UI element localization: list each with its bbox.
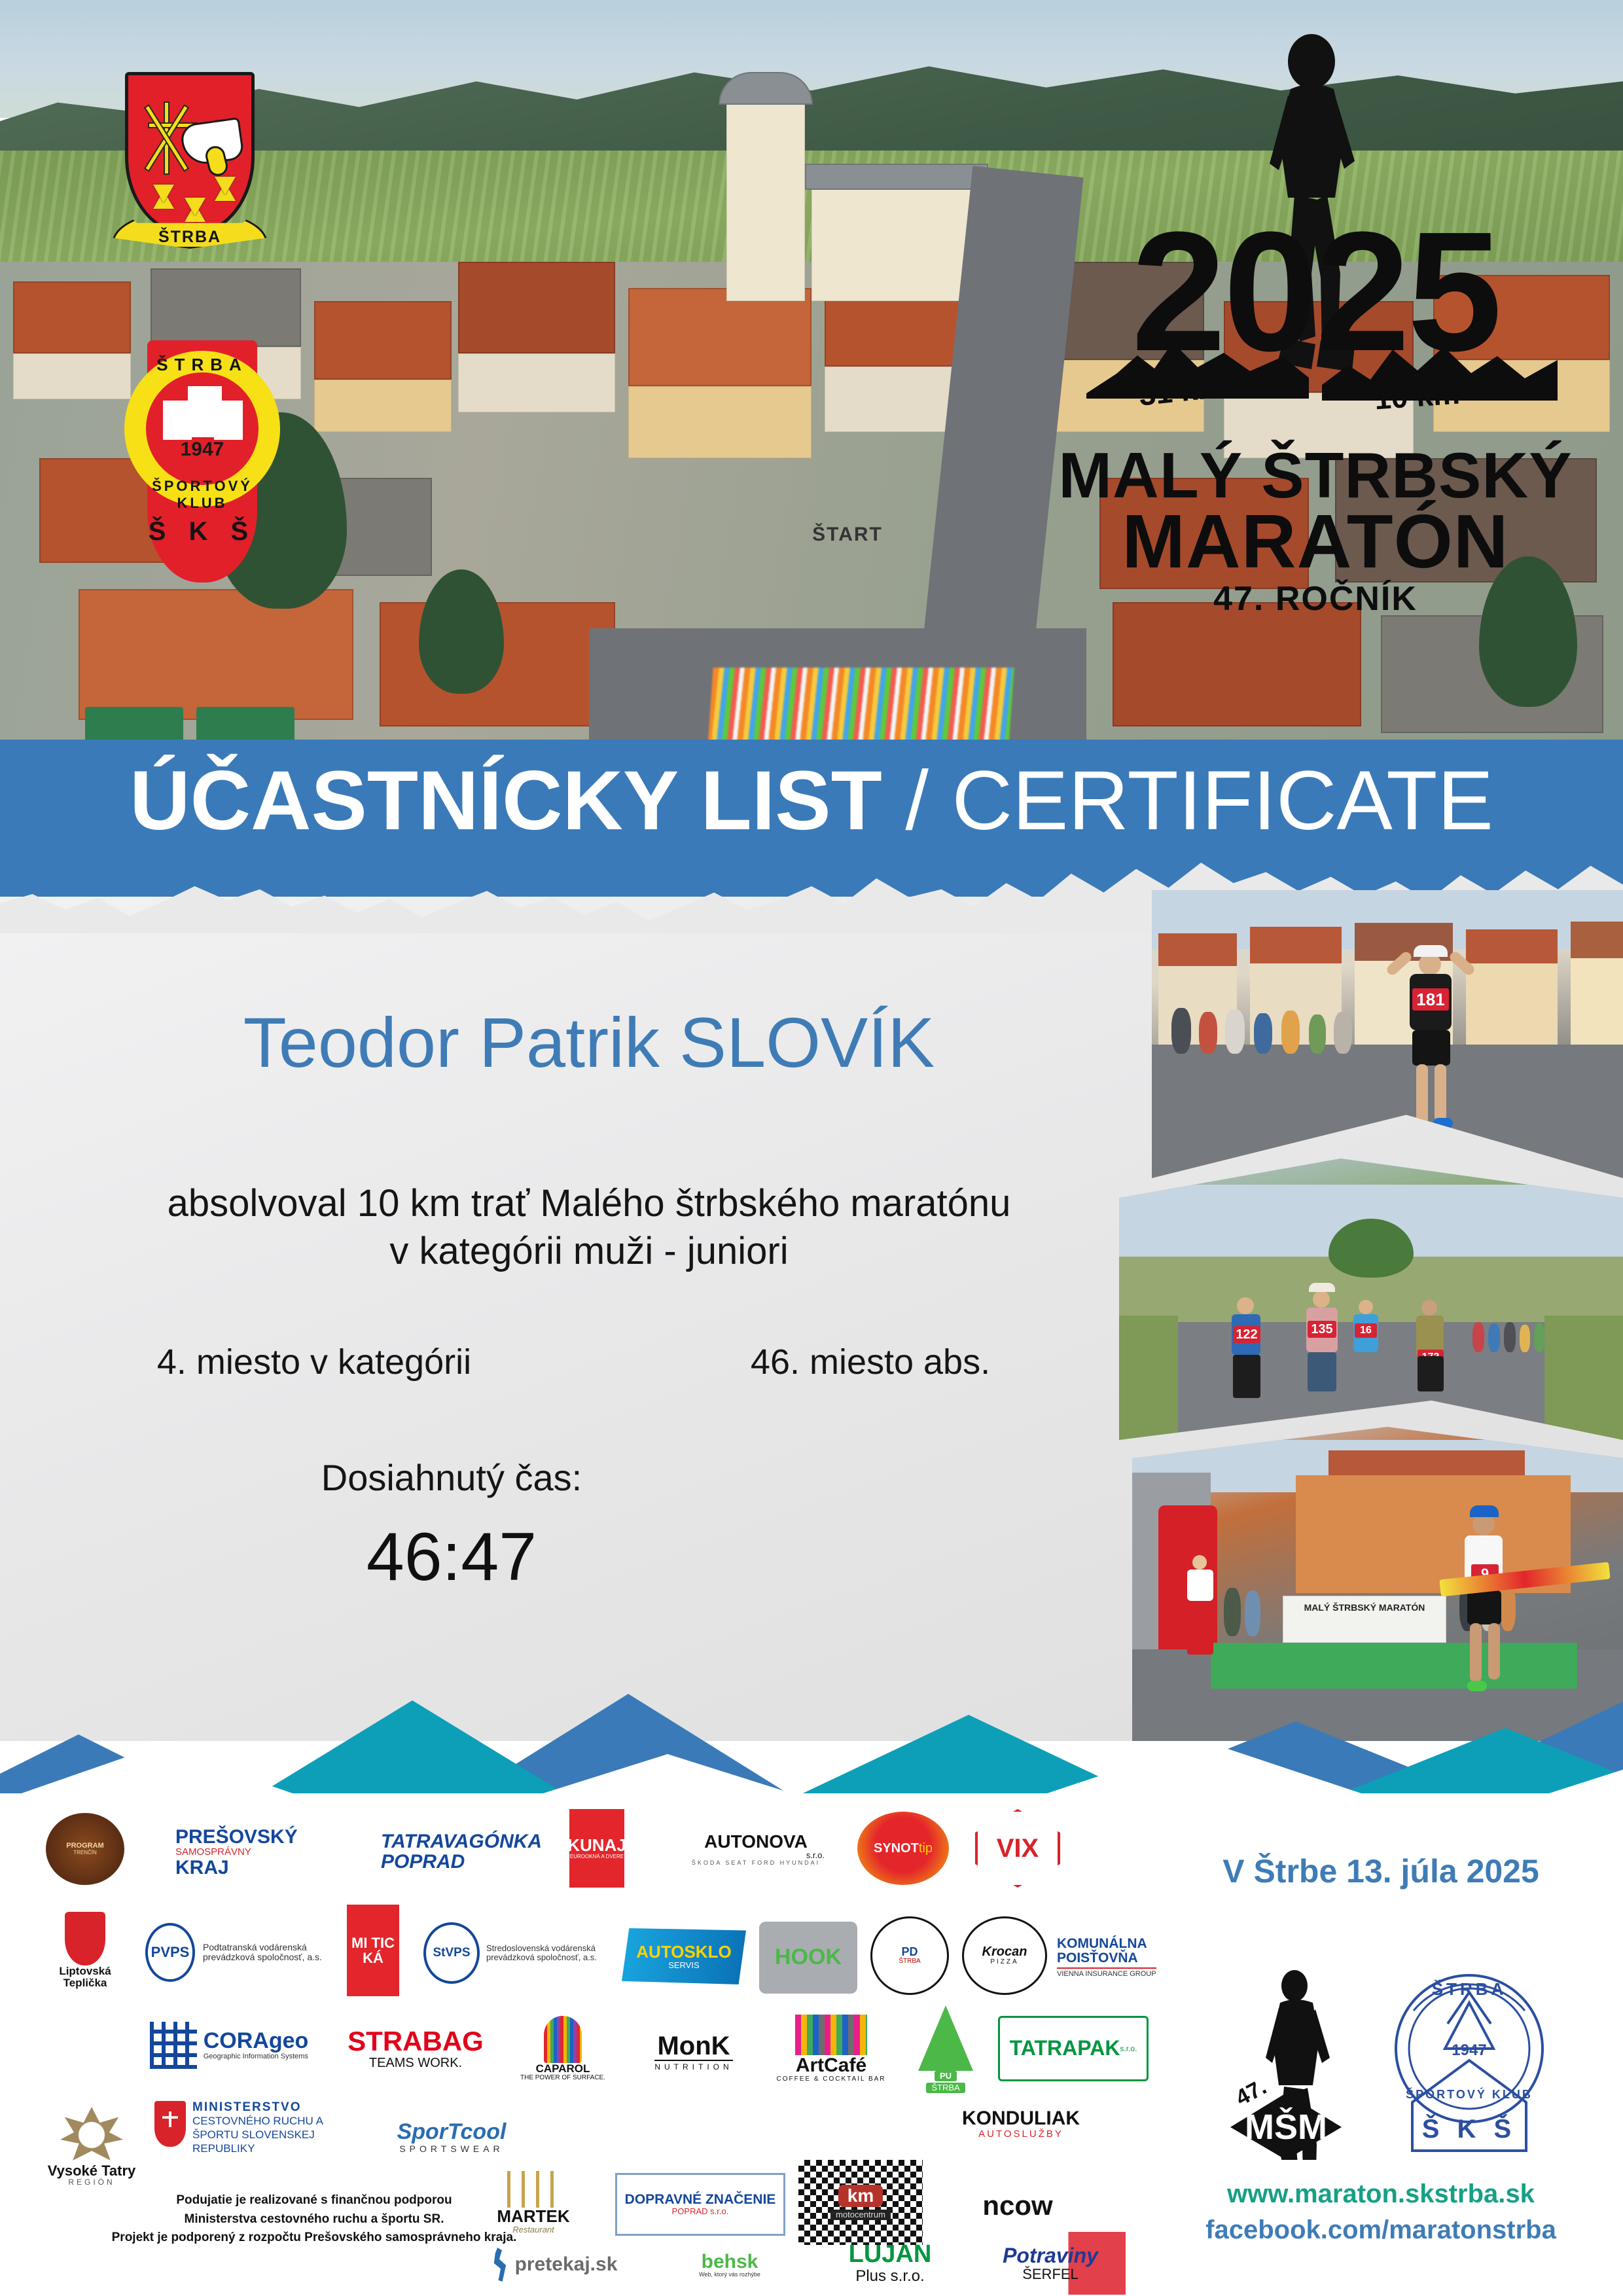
sponsor-sublabel: SERVIS [668,1961,699,1970]
funding-line-1: Podujatie je realizované s finančnou pod… [39,2191,589,2210]
facebook-url[interactable]: facebook.com/maratonstrba [1165,2215,1597,2245]
sponsor-label: SporTcool [397,2121,507,2144]
place-in-category: 4. miesto v kategórii [98,1342,530,1382]
sponsor-logo[interactable]: CAPAROL THE POWER OF SURFACE. [510,2003,615,2094]
sponsor-label: KUNAJ [567,1837,626,1854]
svg-text:47.: 47. [1232,2074,1271,2111]
sponsor-sublabel: REGIÓN [68,2178,115,2187]
sponsor-logo[interactable]: STRABAG TEAMS WORK. [340,2016,491,2081]
description-line-1: absolvoval 10 km trať Malého štrbského m… [79,1181,1099,1225]
sponsor-label: MINISTERSTVO [192,2101,302,2114]
emblem-letters: Š K Š [147,517,257,547]
sponsor-sublabel: Geographic Information Systems [204,2053,308,2061]
sponsor-sublabel: NUTRITION [654,2060,732,2072]
funding-line-2: Ministerstva cestovného ruchu a športu S… [39,2210,589,2229]
event-title-line2: MARATÓN [1047,497,1584,585]
sponsor-logo[interactable]: DOPRAVNÉ ZNAČENIE POPRAD s.r.o. [615,2173,785,2236]
sponsor-label: SYNOT [874,1842,919,1856]
sponsor-label: CORAgeo [204,2030,309,2053]
sponsor-sublabel: s.r.o. [806,1851,838,1860]
sponsor-logo[interactable]: PU ŠTRBA [910,2000,982,2098]
sponsor-sublabel: Stredoslovenská vodárenská prevádzková s… [480,1944,611,1962]
sponsor-logo[interactable]: Vysoké Tatry REGIÓN [46,2094,137,2199]
sponsor-logo[interactable]: TATRAVAGÓNKA POPRAD [334,1822,543,1881]
sponsor-label: PD [901,1946,918,1958]
sponsor-label: Krocan [982,1945,1027,1959]
sponsor-label: PREŠOVSKÝ [137,1827,298,1848]
sponsor-logo[interactable]: Potraviny ŠERFEL [975,2232,1126,2295]
runner-bib: 181 [1412,988,1449,1011]
sponsor-label: StVPS [423,1922,480,1984]
finish-banner-text: MALÝ ŠTRBSKÝ MARATÓN [1287,1602,1442,1614]
sponsor-logo[interactable]: PREŠOVSKÝ SAMOSPRÁVNY KRAJ [137,1822,321,1882]
photo-finisher-jump: 181 [1152,890,1623,1178]
sponsor-label: km [838,2185,883,2206]
emblem-arc-top: ŠTRBA [124,355,280,375]
sponsor-sublabel: motocentrum [830,2210,891,2220]
svg-text:MŠM: MŠM [1245,2107,1327,2147]
sponsor-logo[interactable]: PD ŠTRBA [870,1916,949,1995]
sponsor-sublabel2: KRAJ [137,1857,229,1878]
sponsor-label: KOMUNÁLNA [1057,1937,1147,1951]
sponsor-label: ArtCafé [796,2055,866,2076]
sponsor-sublabel: THE POWER OF SURFACE. [520,2075,605,2082]
event-logo: 2025 31 km 10 km MALÝ ŠTRBSKÝ MARATÓN 47… [1047,33,1584,596]
sponsor-sublabel: tip [919,1842,933,1856]
runner-bib: 122 [1233,1326,1260,1343]
sponsor-logo[interactable]: behsk Web, ktorý vás rozhýbe [654,2238,805,2291]
sponsor-logo[interactable]: LUJAN Plus s.r.o. [825,2232,955,2295]
runner-bib: 16 [1355,1323,1377,1338]
funding-statement: Podujatie je realizované s finančnou pod… [39,2191,589,2248]
sponsor-label: ncow [982,2191,1052,2220]
sponsor-logo[interactable]: PROGRAM TRENČÍN [46,1813,124,1885]
sponsor-sublabel: Plus s.r.o. [855,2268,924,2284]
sponsor-logo[interactable]: KUNAJ EUROOKNÁ A DVERE [569,1809,624,1888]
time-value: 46:47 [196,1518,707,1596]
photo-runners-hill: 122 135 16 173 [1119,1158,1623,1440]
start-arch-label: ŠTART [785,524,910,546]
sponsor-sublabel: CESTOVNÉHO RUCHU A ŠPORTU SLOVENSKEJ REP… [192,2114,343,2156]
sponsor-logo[interactable]: KONDULIAK AUTOSLUŽBY [949,2088,1093,2160]
title-english: CERTIFICATE [952,754,1493,848]
sponsor-sublabel: EUROOKNÁ A DVERE [570,1854,624,1859]
time-label: Dosiahnutý čas: [196,1456,707,1499]
sponsor-sublabel2: VIENNA INSURANCE GROUP [1057,1967,1156,1979]
sponsor-label: KONDULIAK [962,2108,1080,2129]
funding-line-3: Projekt je podporený z rozpočtu Prešovsk… [39,2229,589,2248]
sponsor-logo[interactable]: MI TIC KÁ [347,1905,399,1996]
event-edition: 47. ROČNÍK [1047,579,1584,619]
sponsor-label: AUTOSKLO [636,1943,731,1961]
sponsor-label: TATRAPAK [1010,2037,1120,2060]
distance-short: 10 km [1373,376,1461,417]
club-stamp-arc-top: ŠTRBA [1432,1979,1507,1999]
club-stamp: ŠTRBA 1947 ŠPORTOVÝ KLUB Š K Š [1374,1964,1564,2160]
sponsor-label: HOOK [775,1946,842,1969]
sponsor-label: AUTONOVA [704,1832,808,1851]
club-stamp-arc-bottom: ŠPORTOVÝ KLUB [1406,2087,1533,2101]
sponsor-label: Potraviny [1003,2245,1098,2267]
sponsor-logo[interactable]: MonK NUTRITION [628,2016,759,2088]
sponsor-sublabel: TRENČÍN [73,1850,97,1856]
sponsor-logo[interactable]: KOMUNÁLNA POISŤOVŇA VIENNA INSURANCE GRO… [1057,1922,1207,1994]
sponsor-sublabel: SAMOSPRÁVNY [137,1847,251,1857]
title-separator: / [882,754,952,848]
sponsor-label: PVPS [145,1923,195,1982]
sponsor-sublabel: ŠERFEL [1022,2267,1079,2282]
sponsor-sublabel: COFFEE & COCKTAIL BAR [776,2076,885,2083]
club-stamp-year: 1947 [1452,2041,1486,2059]
sponsor-logo[interactable]: Krocan PIZZA [962,1916,1047,1995]
crest-name: ŠTRBA [115,228,265,247]
sponsor-label: VIX [997,1835,1039,1862]
participant-name: Teodor Patrik SLOVÍK [79,1001,1099,1083]
sponsor-label: CAPAROL [536,2063,590,2075]
sponsor-label: LUJAN [849,2242,932,2268]
sponsor-label: TATRAVAGÓNKA [334,1831,542,1852]
sponsor-sublabel: s.r.o. [1120,2045,1137,2053]
sponsor-logo[interactable]: CORAgeo Geographic Information Systems [131,2009,327,2081]
sponsor-logo[interactable]: AUTONOVA s.r.o. ŠKODA SEAT FORD HYUNDAI [674,1813,838,1885]
sponsor-logo-grid: PROGRAM TRENČÍN PREŠOVSKÝ SAMOSPRÁVNY KR… [46,1806,1158,2225]
strba-coat-of-arms: ŠTRBA [115,65,265,262]
sponsor-label: Vysoké Tatry [48,2163,136,2178]
sponsor-logo[interactable]: StVPS Stredoslovenská vodárenská prevádz… [419,1916,615,1990]
sponsor-logo[interactable]: HOOK [759,1922,857,1994]
sponsor-logo[interactable]: ncow [955,2173,1080,2238]
sponsor-logo[interactable]: ArtCafé COFFEE & COCKTAIL BAR [772,2003,890,2094]
sponsor-sublabel: POPRAD s.r.o. [672,2207,729,2216]
sponsor-label: DOPRAVNÉ ZNAČENIE [625,2193,776,2207]
certificate-title: ÚČASTNÍCKY LIST / CERTIFICATE [0,753,1623,849]
msm-stamp: MŠM 47. [1211,1964,1361,2160]
sponsor-logo[interactable]: PVPS Podtatranská vodárenská prevádzková… [137,1916,334,1988]
sponsor-logo[interactable]: AUTOSKLO SERVIS [622,1928,746,1984]
sponsor-logo[interactable]: VIX [975,1809,1060,1888]
sponsor-label: Liptovská [59,1965,111,1977]
sponsor-label: PROGRAM [66,1842,103,1850]
sponsor-sublabel: ŠTRBA [899,1958,920,1965]
sponsor-label: behsk [702,2251,758,2272]
sponsor-label: MI TIC KÁ [347,1935,399,1965]
sponsor-logo[interactable]: Liptovská Teplička [46,1905,124,1996]
runners-crowd [700,668,1014,740]
runner-bib: 135 [1308,1321,1336,1338]
sponsor-sublabel: PIZZA [990,1959,1018,1966]
sponsor-label: PU [935,2071,957,2081]
description-line-2: v kategórii muži - juniori [79,1229,1099,1273]
sponsor-sublabel: Teplička [63,1977,107,1989]
sponsor-sublabel: TEAMS WORK. [369,2056,462,2070]
club-stamp-letters: Š K Š [1422,2113,1516,2144]
title-slovak: ÚČASTNÍCKY LIST [130,754,882,848]
sponsor-logo[interactable]: SYNOTtip [857,1812,949,1885]
shield-icon [125,72,255,236]
sponsor-sublabel: POPRAD [334,1852,465,1873]
place-absolute: 46. miesto abs. [654,1342,1086,1382]
sks-club-emblem: ŠTRBA 1947 ŠPORTOVÝ KLUB Š K Š [108,321,298,602]
sponsor-sublabel: POISŤOVŇA [1057,1951,1138,1965]
sponsor-sublabel: Web, ktorý vás rozhýbe [699,2272,760,2278]
emblem-year: 1947 [146,439,259,461]
photo-collage: 181 122 135 [1099,890,1623,1741]
emblem-arc-bottom: ŠPORTOVÝ KLUB [124,478,280,512]
sponsor-label: pretekaj.sk [515,2254,618,2275]
sponsor-sublabel: Podtatranská vodárenská prevádzková spol… [195,1943,326,1962]
website-url[interactable]: www.maraton.skstrba.sk [1165,2179,1597,2209]
sponsor-label: STRABAG [348,2027,484,2056]
sponsor-sublabel: SPORTSWEAR [399,2144,503,2154]
sponsor-logo[interactable]: MINISTERSTVO CESTOVNÉHO RUCHU A ŠPORTU S… [144,2101,353,2193]
issue-date: V Štrbe 13. júla 2025 [1165,1852,1597,1890]
sponsor-label: MonK [657,2032,730,2060]
sponsor-logo[interactable]: TATRAPAK s.r.o. [998,2016,1149,2081]
sponsor-sublabel: AUTOSLUŽBY [978,2129,1063,2140]
